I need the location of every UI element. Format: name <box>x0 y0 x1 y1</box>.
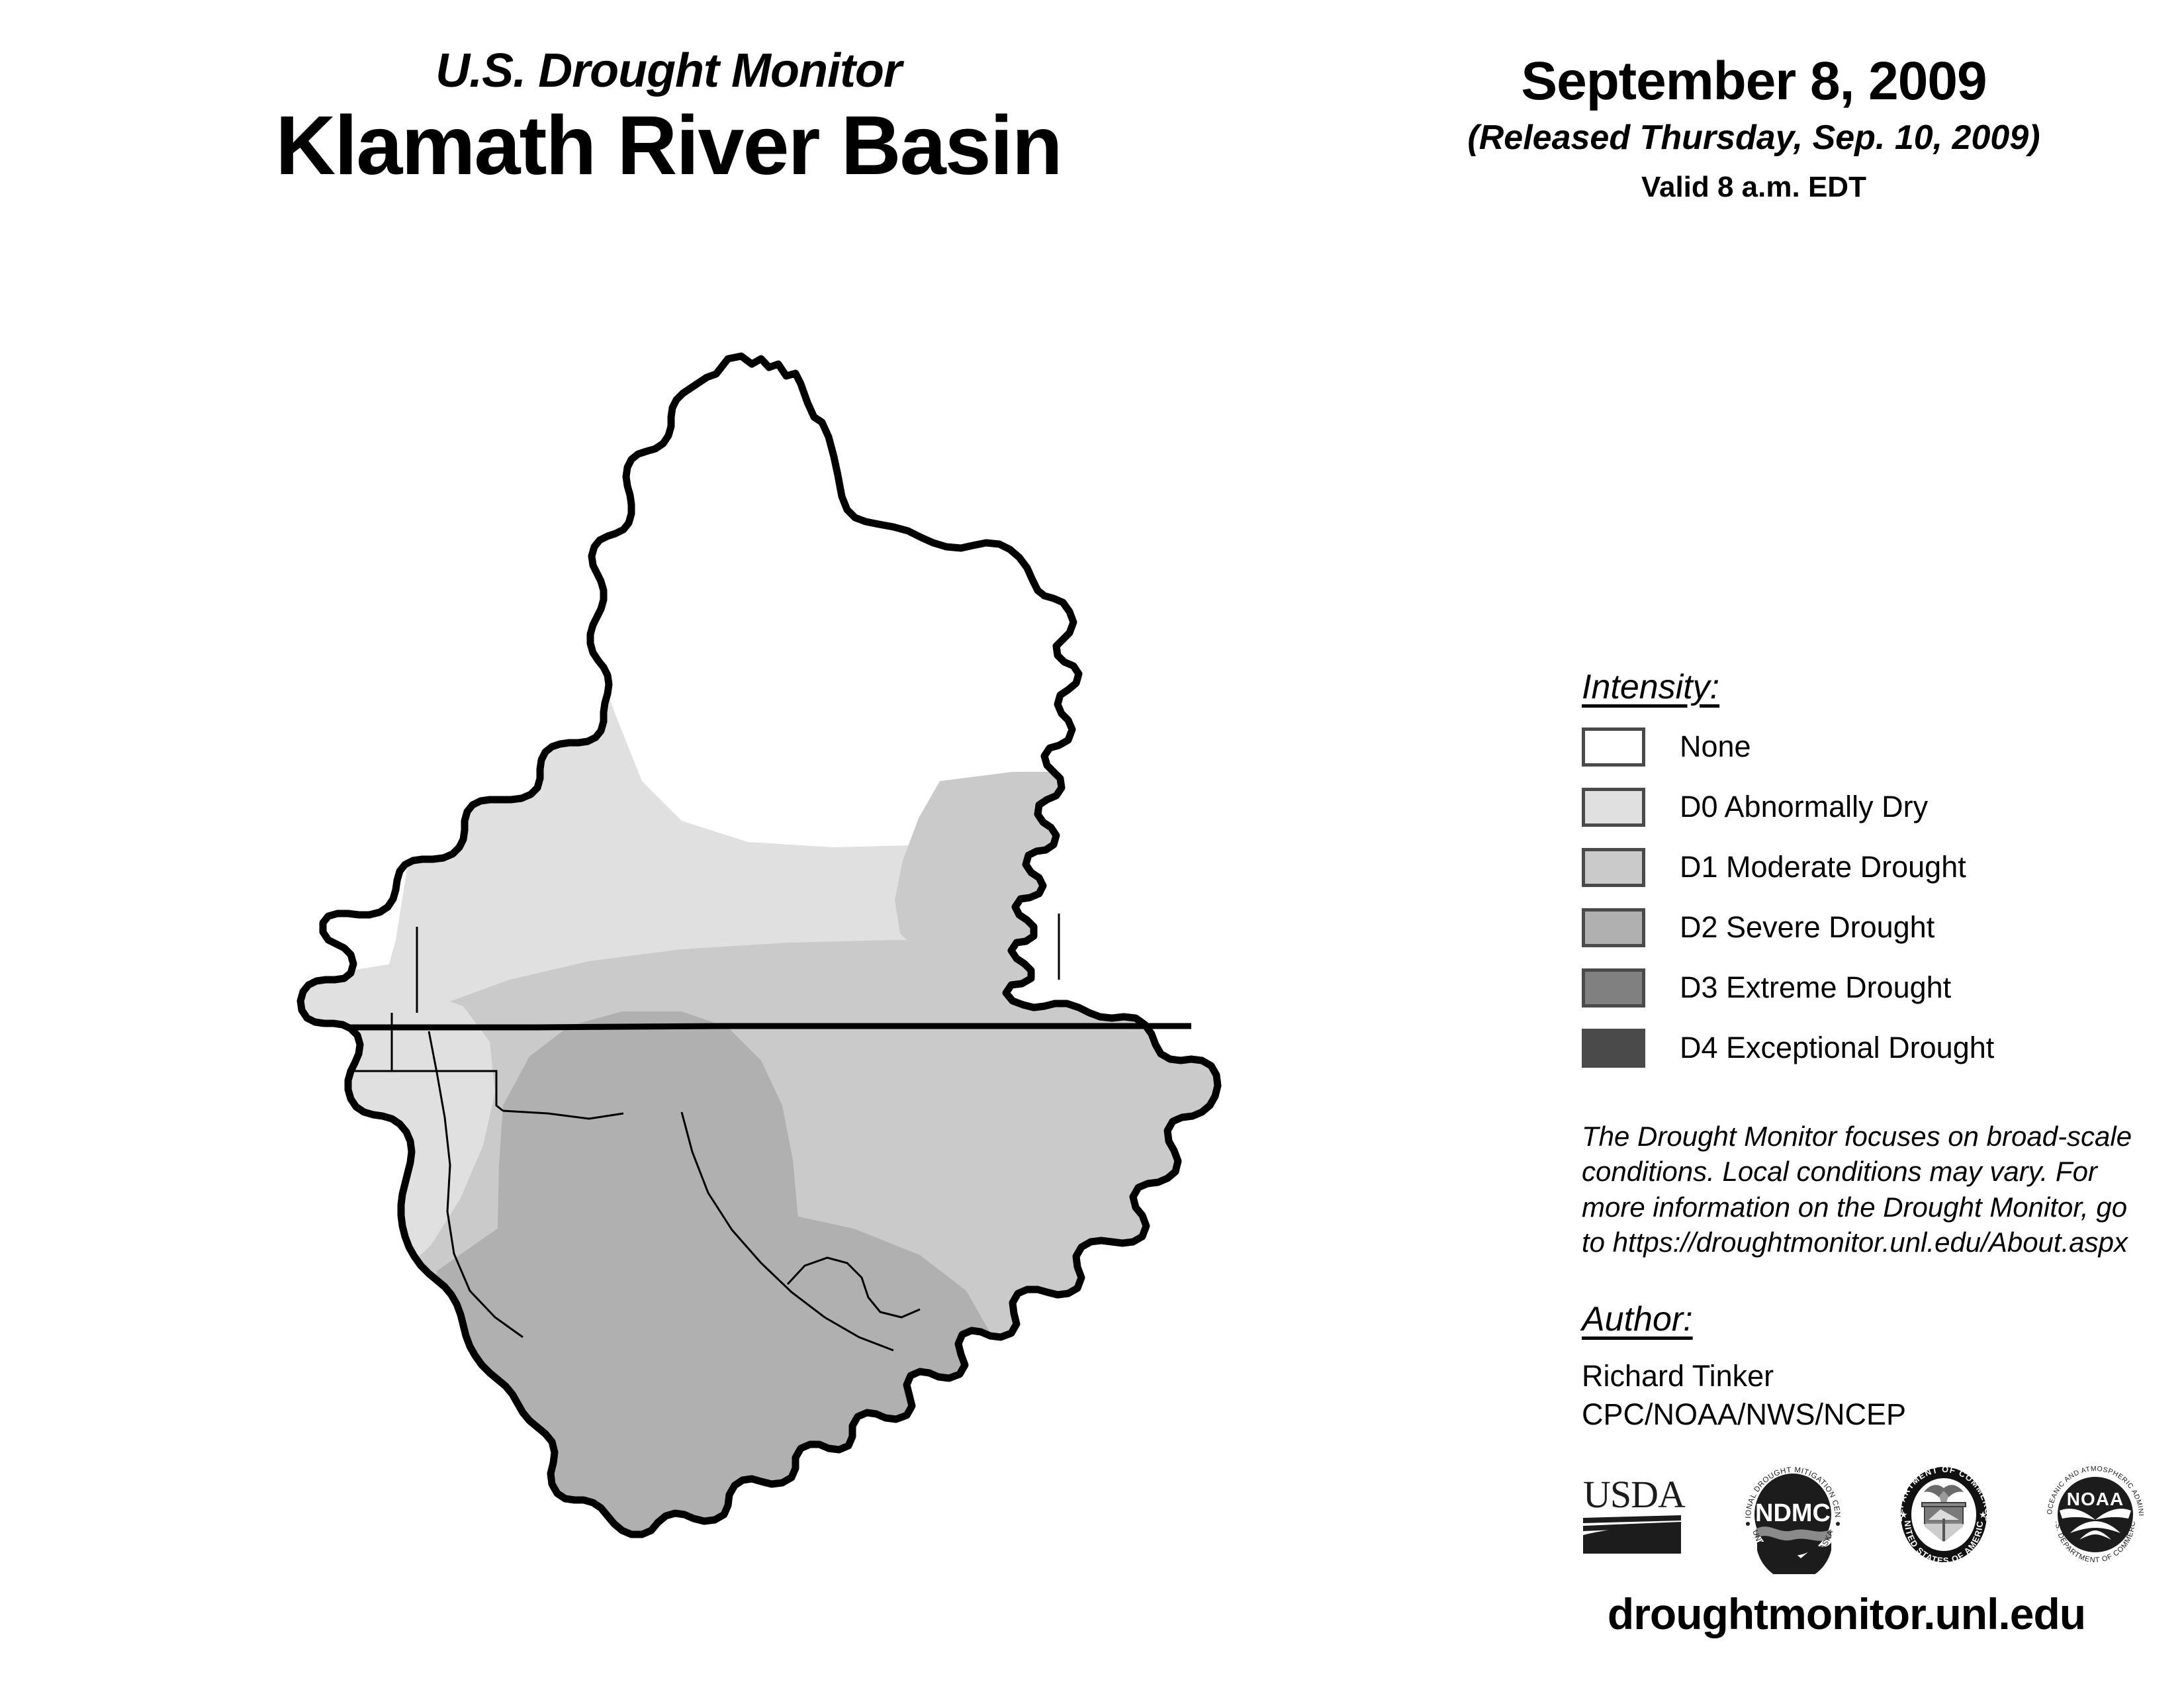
legend-label-d3: D3 Extreme Drought <box>1680 971 1951 1004</box>
map-fill-layers <box>218 344 1449 1602</box>
map-svg[interactable] <box>218 344 1449 1602</box>
legend-swatch-none <box>1582 727 1645 767</box>
author-heading: Author: <box>1582 1301 2138 1338</box>
valid-date: September 8, 2009 <box>1443 53 2065 110</box>
usda-logo-svg: USDA <box>1582 1472 1698 1558</box>
legend-swatch-d4 <box>1582 1029 1645 1068</box>
header-right-dates: September 8, 2009 (Released Thursday, Se… <box>1443 53 2065 204</box>
legend-item-d4[interactable]: D4 Exceptional Drought <box>1582 1023 2098 1072</box>
legend-item-d1[interactable]: D1 Moderate Drought <box>1582 843 2098 892</box>
release-date: (Released Thursday, Sep. 10, 2009) <box>1443 119 2065 157</box>
ndmc-logo: NDMC NATIONAL DROUGHT MITIGATION CENTER … <box>1737 1455 1848 1577</box>
legend-label-none: None <box>1680 730 1751 763</box>
svg-text:NOAA: NOAA <box>2067 1489 2124 1509</box>
page-title: Klamath River Basin <box>172 102 1165 189</box>
svg-text:★: ★ <box>1899 1509 1908 1520</box>
state-boundary-line <box>348 1026 1191 1027</box>
disclaimer-text: The Drought Monitor focuses on broad-sca… <box>1582 1119 2138 1260</box>
author-name: Richard Tinker <box>1582 1357 2138 1395</box>
svg-text:USDA: USDA <box>1583 1473 1686 1516</box>
ndmc-logo-svg: NDMC NATIONAL DROUGHT MITIGATION CENTER … <box>1737 1455 1848 1574</box>
legend-item-d0[interactable]: D0 Abnormally Dry <box>1582 782 2098 831</box>
legend-label-d1: D1 Moderate Drought <box>1680 851 1966 884</box>
noaa-logo-svg: NOAA NATIONAL OCEANIC AND ATMOSPHERIC AD… <box>2040 1455 2151 1574</box>
svg-text:★: ★ <box>1979 1509 1987 1520</box>
doc-seal-svg: DEPARTMENT OF COMMERCE UNITED STATES OF … <box>1888 1455 2000 1574</box>
drought-map[interactable] <box>218 344 1449 1602</box>
legend: Intensity: None D0 Abnormally Dry D1 Mod… <box>1582 669 2098 1084</box>
legend-swatch-d1 <box>1582 848 1645 887</box>
header-left-titles: U.S. Drought Monitor Klamath River Basin <box>172 46 1165 189</box>
legend-item-d3[interactable]: D3 Extreme Drought <box>1582 963 2098 1012</box>
partner-logos: USDA NDMC NATIONAL DROUGHT MITIGATION CE… <box>1582 1443 2151 1589</box>
noaa-logo: NOAA NATIONAL OCEANIC AND ATMOSPHERIC AD… <box>2040 1455 2151 1577</box>
author-block: Author: Richard Tinker CPC/NOAA/NWS/NCEP <box>1582 1301 2138 1433</box>
legend-swatch-d3 <box>1582 968 1645 1008</box>
doc-seal: DEPARTMENT OF COMMERCE UNITED STATES OF … <box>1888 1455 2000 1577</box>
legend-label-d4: D4 Exceptional Drought <box>1680 1031 1994 1064</box>
legend-swatch-d0 <box>1582 788 1645 827</box>
legend-item-none[interactable]: None <box>1582 722 2098 771</box>
svg-text:NDMC: NDMC <box>1755 1499 1831 1527</box>
legend-swatch-d2 <box>1582 908 1645 947</box>
usda-logo: USDA <box>1582 1472 1698 1561</box>
legend-title: Intensity: <box>1582 669 2098 706</box>
author-affiliation: CPC/NOAA/NWS/NCEP <box>1582 1395 2138 1434</box>
footer-url[interactable]: droughtmonitor.unl.edu <box>1549 1589 2144 1639</box>
legend-label-d2: D2 Severe Drought <box>1680 911 1934 944</box>
valid-time: Valid 8 a.m. EDT <box>1443 171 2065 203</box>
program-title: U.S. Drought Monitor <box>172 46 1165 97</box>
legend-item-d2[interactable]: D2 Severe Drought <box>1582 903 2098 952</box>
legend-label-d0: D0 Abnormally Dry <box>1680 790 1928 823</box>
